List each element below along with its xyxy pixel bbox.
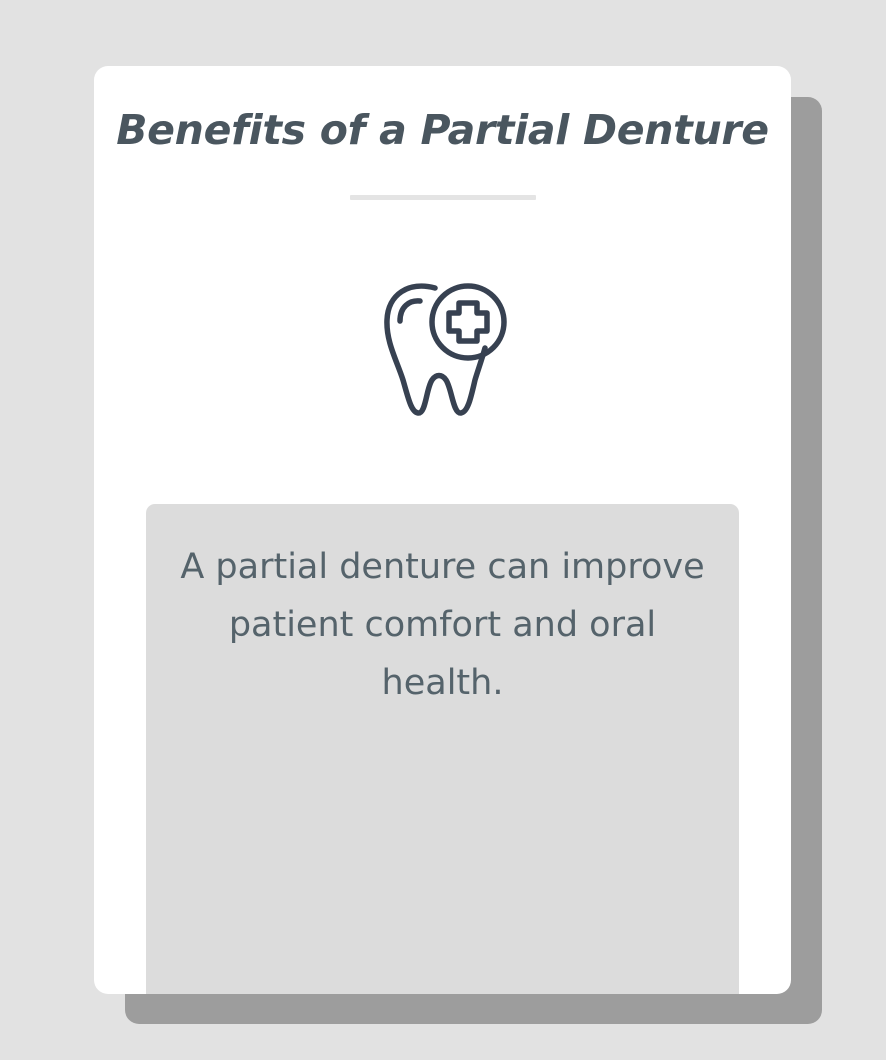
tooth-with-medical-cross-icon [379,279,507,419]
page-title: Benefits of a Partial Denture [94,106,791,154]
content-panel: A partial denture can improve patient co… [146,504,739,994]
benefits-card: Benefits of a Partial Denture A partial … [94,66,791,994]
slide-canvas: Benefits of a Partial Denture A partial … [0,0,886,1060]
icon-container [94,276,791,421]
title-divider [350,195,536,200]
panel-body-text: A partial denture can improve patient co… [176,538,709,712]
